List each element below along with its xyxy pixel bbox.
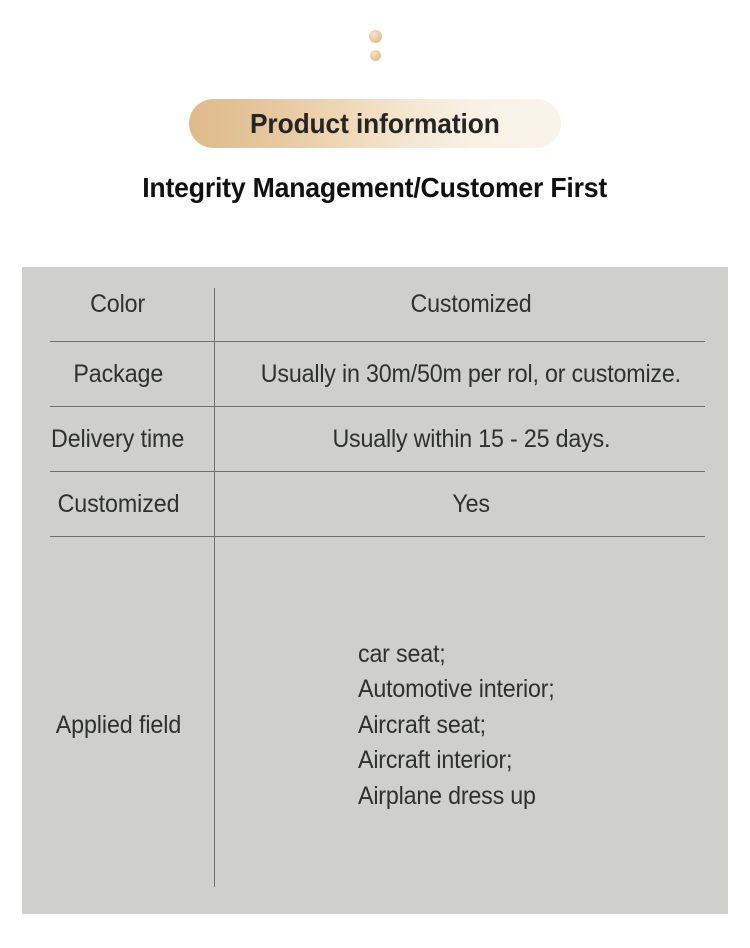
specification-panel: Color Customized Package Usually in 30m/… xyxy=(22,267,728,914)
decorative-dots xyxy=(0,30,750,61)
product-information-badge: Product information xyxy=(189,99,561,148)
row-label-delivery-time-text: Delivery time xyxy=(51,425,184,454)
applied-field-item: Automotive interior; xyxy=(358,672,555,708)
row-label-applied-field: Applied field xyxy=(22,711,214,740)
row-value-color-text: Customized xyxy=(411,290,532,319)
row-value-delivery-time: Usually within 15 - 25 days. xyxy=(214,425,728,454)
dot-large-icon xyxy=(369,30,382,43)
product-information-page: Product information Integrity Management… xyxy=(0,0,750,948)
table-row-applied-field: Applied field car seat; Automotive inter… xyxy=(22,537,728,914)
row-label-color-text: Color xyxy=(90,290,145,319)
badge-label: Product information xyxy=(250,108,500,140)
row-label-package: Package xyxy=(22,360,214,389)
row-value-package: Usually in 30m/50m per rol, or customize… xyxy=(214,360,728,389)
row-label-package-text: Package xyxy=(73,360,163,389)
applied-field-list: car seat; Automotive interior; Aircraft … xyxy=(358,637,555,815)
row-label-delivery-time: Delivery time xyxy=(22,425,214,454)
page-subtitle: Integrity Management/Customer First xyxy=(0,172,750,204)
dot-small-icon xyxy=(370,50,381,61)
row-label-applied-field-text: Applied field xyxy=(55,711,180,740)
table-row-customized: Customized Yes xyxy=(22,472,728,537)
row-value-customized-text: Yes xyxy=(452,490,489,519)
page-subtitle-text: Integrity Management/Customer First xyxy=(143,172,608,204)
applied-field-item: car seat; xyxy=(358,637,555,673)
row-label-color: Color xyxy=(22,290,214,319)
row-value-package-text: Usually in 30m/50m per rol, or customize… xyxy=(261,360,681,389)
applied-field-item: Aircraft interior; xyxy=(358,743,555,779)
applied-field-item: Aircraft seat; xyxy=(358,708,555,744)
row-value-applied-field: car seat; Automotive interior; Aircraft … xyxy=(214,637,728,815)
row-value-color: Customized xyxy=(214,290,728,319)
applied-field-item: Airplane dress up xyxy=(358,779,555,815)
table-row-delivery-time: Delivery time Usually within 15 - 25 day… xyxy=(22,407,728,472)
specification-table: Color Customized Package Usually in 30m/… xyxy=(22,267,728,914)
row-label-customized: Customized xyxy=(22,490,214,519)
row-label-customized-text: Customized xyxy=(57,490,179,519)
table-row-color: Color Customized xyxy=(22,267,728,342)
row-value-customized: Yes xyxy=(214,490,728,519)
row-value-delivery-time-text: Usually within 15 - 25 days. xyxy=(332,425,610,454)
table-row-package: Package Usually in 30m/50m per rol, or c… xyxy=(22,342,728,407)
badge-container: Product information xyxy=(0,99,750,148)
